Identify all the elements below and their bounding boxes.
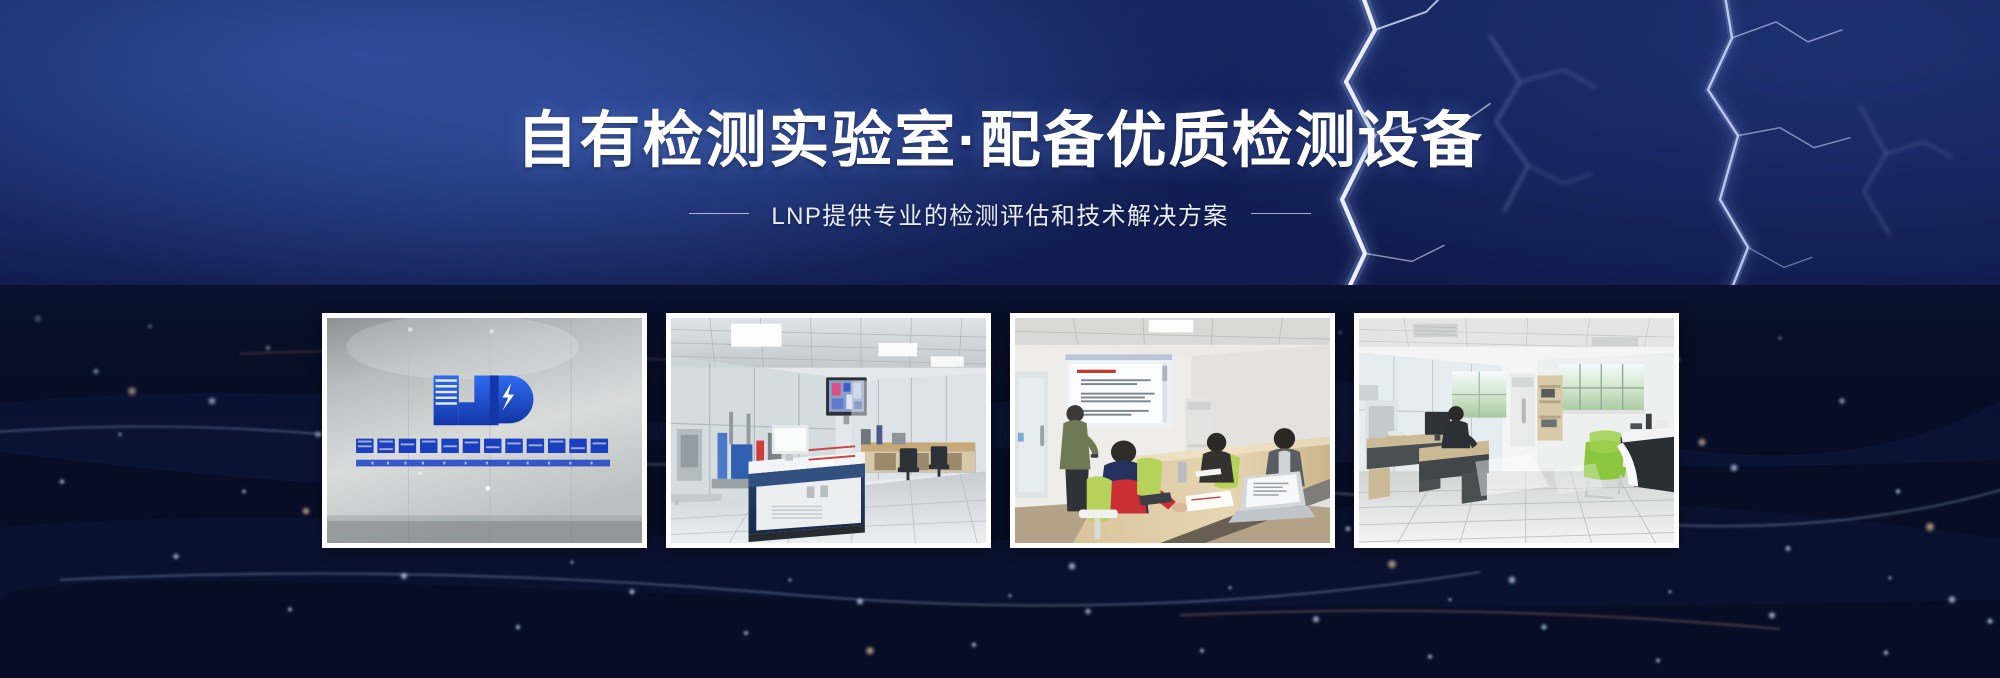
photo-gallery: 公司前台LOGO形象墙 [0, 313, 2000, 548]
photo-frame: 检测实验室 — 高压试验设备与操作控制台 [671, 318, 986, 543]
training-meeting-room-photo[interactable]: 会议培训室 — 投影讲解与技术交流 [1010, 313, 1335, 548]
hero-banner: 自有检测实验室·配备优质检测设备 LNP提供专业的检测评估和技术解决方案 [0, 0, 2000, 678]
rule-right-icon [1251, 213, 1311, 214]
testing-laboratory-photo[interactable]: 检测实验室 — 高压试验设备与操作控制台 [666, 313, 991, 548]
photo-frame: 会议培训室 — 投影讲解与技术交流 [1015, 318, 1330, 543]
hero-text-block: 自有检测实验室·配备优质检测设备 LNP提供专业的检测评估和技术解决方案 [0, 108, 2000, 231]
company-logo-wall-photo[interactable]: 公司前台LOGO形象墙 [322, 313, 647, 548]
photo-frame: 办公区 — 办公工位与接待前台 [1359, 318, 1674, 543]
page-title: 自有检测实验室·配备优质检测设备 [0, 108, 2000, 174]
subtitle-row: LNP提供专业的检测评估和技术解决方案 [0, 196, 2000, 231]
office-area-photo[interactable]: 办公区 — 办公工位与接待前台 [1354, 313, 1679, 548]
page-subtitle: LNP提供专业的检测评估和技术解决方案 [771, 196, 1228, 231]
rule-left-icon [689, 213, 749, 214]
photo-frame: 公司前台LOGO形象墙 [327, 318, 642, 543]
